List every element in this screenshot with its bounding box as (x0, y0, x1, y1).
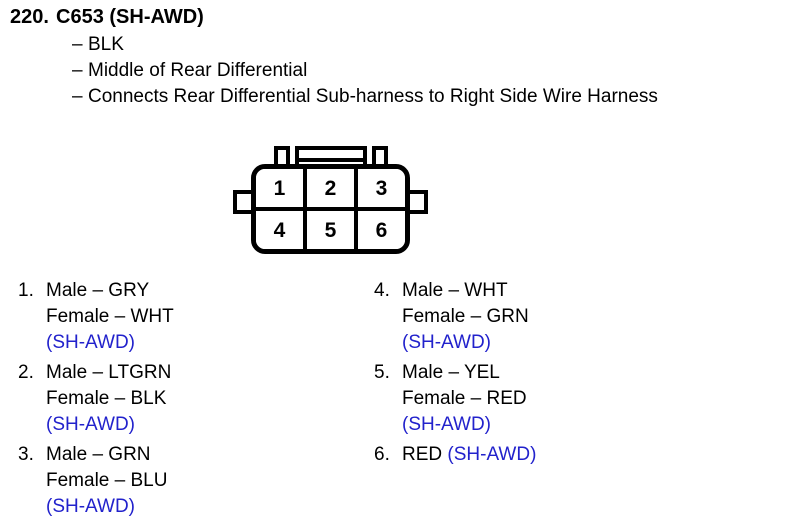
pin-list-item-body: Male – YEL Female – RED (SH-AWD) (402, 360, 794, 438)
page-title-number: 220. (10, 5, 56, 30)
connector-pin-6: 6 (354, 211, 405, 249)
pin-note-badge: (SH-AWD) (402, 330, 794, 356)
pin-list-item-index: 5. (374, 360, 402, 386)
connector-pin-3: 3 (354, 169, 405, 207)
pin-female-wire: Female – BLK (46, 386, 358, 412)
dash-icon: – (72, 32, 88, 58)
connector-pin-row-bottom: 4 5 6 (256, 211, 405, 249)
pin-female-wire: Female – WHT (46, 304, 358, 330)
pin-female-wire: Female – RED (402, 386, 794, 412)
pin-male-wire: Male – GRY (46, 278, 358, 304)
pin-female-wire: Female – GRN (402, 304, 794, 330)
pin-note-badge: (SH-AWD) (402, 412, 794, 438)
header-bullet-label: Middle of Rear Differential (88, 58, 307, 84)
pin-list-item: 4. Male – WHT Female – GRN (SH-AWD) (374, 278, 794, 356)
pin-list-item-body: Male – GRN Female – BLU (SH-AWD) (46, 442, 358, 520)
pin-list-item: 2. Male – LTGRN Female – BLK (SH-AWD) (18, 360, 358, 438)
pin-male-wire: Male – WHT (402, 278, 794, 304)
pin-list-item-body: Male – GRY Female – WHT (SH-AWD) (46, 278, 358, 356)
pin-list-item-index: 1. (18, 278, 46, 304)
connector-body: 1 2 3 4 5 6 (251, 164, 410, 254)
pin-list-item-index: 4. (374, 278, 402, 304)
connector-pin-5: 5 (303, 211, 354, 249)
header-bullet-item: – BLK (10, 32, 800, 58)
pin-note-badge: (SH-AWD) (447, 444, 536, 465)
connector-pin-4: 4 (256, 211, 303, 249)
dash-icon: – (72, 58, 88, 84)
header-block: 220.C653 (SH-AWD) – BLK – Middle of Rear… (10, 5, 800, 110)
pin-list-right-column: 4. Male – WHT Female – GRN (SH-AWD) 5. M… (374, 278, 794, 472)
pin-male-wire: Male – LTGRN (46, 360, 358, 386)
pin-male-wire: Male – GRN (46, 442, 358, 468)
pin-male-wire: Male – YEL (402, 360, 794, 386)
pin-list-item: 5. Male – YEL Female – RED (SH-AWD) (374, 360, 794, 438)
header-bullet-list: – BLK – Middle of Rear Differential – Co… (10, 32, 800, 110)
pin-female-wire: Female – BLU (46, 468, 358, 494)
connector-top-center-latch-line (299, 158, 363, 162)
header-bullet-label: BLK (88, 32, 124, 58)
page-title: 220.C653 (SH-AWD) (10, 5, 800, 30)
connector-pin-2: 2 (303, 169, 354, 207)
pin-wire-inline: RED (SH-AWD) (402, 442, 794, 468)
connector-pin-1: 1 (256, 169, 303, 207)
pin-list-item-body: Male – WHT Female – GRN (SH-AWD) (402, 278, 794, 356)
pin-list-item-body: Male – LTGRN Female – BLK (SH-AWD) (46, 360, 358, 438)
page-title-text: C653 (SH-AWD) (56, 6, 204, 28)
header-bullet-item: – Connects Rear Differential Sub-harness… (10, 84, 800, 110)
connector-diagram: 1 2 3 4 5 6 (233, 146, 428, 261)
pin-list-item-index: 3. (18, 442, 46, 468)
pin-list-item: 3. Male – GRN Female – BLU (SH-AWD) (18, 442, 358, 520)
pin-list-item-body: RED (SH-AWD) (402, 442, 794, 468)
connector-pin-row-top: 1 2 3 (256, 169, 405, 211)
header-bullet-item: – Middle of Rear Differential (10, 58, 800, 84)
pin-list-left-column: 1. Male – GRY Female – WHT (SH-AWD) 2. M… (18, 278, 358, 524)
pin-note-badge: (SH-AWD) (46, 412, 358, 438)
pin-list-item: 1. Male – GRY Female – WHT (SH-AWD) (18, 278, 358, 356)
pin-list-item-index: 2. (18, 360, 46, 386)
header-bullet-label: Connects Rear Differential Sub-harness t… (88, 84, 658, 110)
pin-note-badge: (SH-AWD) (46, 330, 358, 356)
pin-note-badge: (SH-AWD) (46, 494, 358, 520)
dash-icon: – (72, 84, 88, 110)
pin-list-item-index: 6. (374, 442, 402, 468)
pin-wire-color: RED (402, 444, 447, 465)
pin-list-item: 6. RED (SH-AWD) (374, 442, 794, 468)
